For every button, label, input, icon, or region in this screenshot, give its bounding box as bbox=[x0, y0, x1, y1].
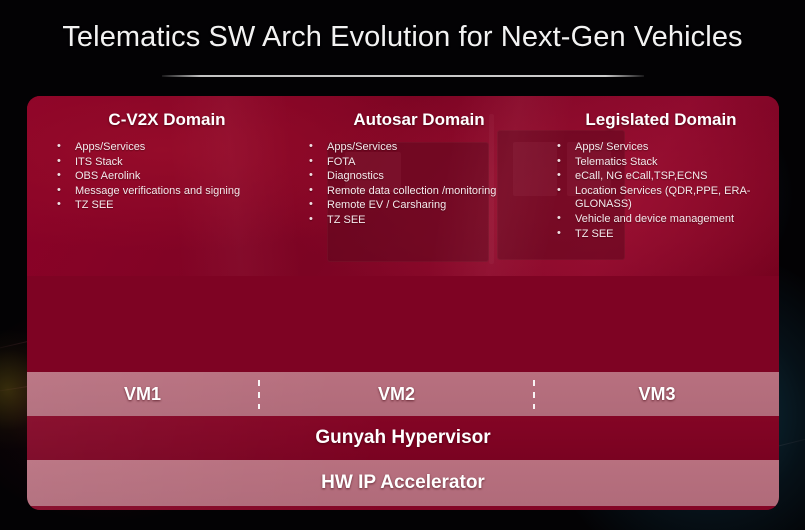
hypervisor-band: Gunyah Hypervisor bbox=[27, 416, 779, 460]
list-item: Diagnostics bbox=[305, 170, 533, 184]
list-item: OBS Aerolink bbox=[53, 170, 281, 184]
list-item: Location Services (QDR,PPE, ERA-GLONASS) bbox=[553, 185, 769, 212]
list-item: TZ SEE bbox=[553, 228, 769, 242]
vm-cell-vm2: VM2 bbox=[260, 372, 533, 416]
list-item: Telematics Stack bbox=[553, 156, 769, 170]
architecture-panel: C-V2X Domain Apps/Services ITS Stack OBS… bbox=[27, 96, 779, 510]
vm-cell-vm3: VM3 bbox=[535, 372, 779, 416]
list-item: TZ SEE bbox=[53, 199, 281, 213]
title-underline-rule bbox=[162, 75, 644, 77]
vm-band: VM1 VM2 VM3 bbox=[27, 372, 779, 416]
domain-title-c-v2x: C-V2X Domain bbox=[53, 110, 281, 130]
list-item: Apps/ Services bbox=[553, 141, 769, 155]
domain-list-c-v2x: Apps/Services ITS Stack OBS Aerolink Mes… bbox=[53, 141, 281, 213]
list-item: eCall, NG eCall,TSP,ECNS bbox=[553, 170, 769, 184]
hw-ip-accelerator-label: HW IP Accelerator bbox=[321, 472, 485, 494]
title-block: Telematics SW Arch Evolution for Next-Ge… bbox=[0, 22, 805, 77]
domain-title-autosar: Autosar Domain bbox=[305, 110, 533, 130]
list-item: TZ SEE bbox=[305, 214, 533, 228]
domain-column-c-v2x: C-V2X Domain Apps/Services ITS Stack OBS… bbox=[53, 110, 281, 214]
list-item: Apps/Services bbox=[53, 141, 281, 155]
hw-ip-accelerator-band: HW IP Accelerator bbox=[27, 460, 779, 506]
list-item: Remote EV / Carsharing bbox=[305, 199, 533, 213]
vm-cell-vm1: VM1 bbox=[27, 372, 258, 416]
domain-column-legislated: Legislated Domain Apps/ Services Telemat… bbox=[553, 110, 769, 242]
domain-list-legislated: Apps/ Services Telematics Stack eCall, N… bbox=[553, 141, 769, 241]
list-item: FOTA bbox=[305, 156, 533, 170]
page-title: Telematics SW Arch Evolution for Next-Ge… bbox=[0, 22, 805, 54]
domain-column-autosar: Autosar Domain Apps/Services FOTA Diagno… bbox=[305, 110, 533, 229]
list-item: Vehicle and device management bbox=[553, 213, 769, 227]
list-item: Apps/Services bbox=[305, 141, 533, 155]
modem-band: Modem (WAN,C-V2X,MF-GNSS)+ Wi-Fi(11ac, 1… bbox=[27, 506, 779, 510]
list-item: Remote data collection /monitoring bbox=[305, 185, 533, 199]
domain-list-autosar: Apps/Services FOTA Diagnostics Remote da… bbox=[305, 141, 533, 228]
slide-canvas: Telematics SW Arch Evolution for Next-Ge… bbox=[0, 0, 805, 530]
list-item: ITS Stack bbox=[53, 156, 281, 170]
hypervisor-label: Gunyah Hypervisor bbox=[315, 427, 490, 449]
domain-title-legislated: Legislated Domain bbox=[553, 110, 769, 130]
list-item: Message verifications and signing bbox=[53, 185, 281, 199]
domains-region: C-V2X Domain Apps/Services ITS Stack OBS… bbox=[27, 96, 779, 276]
